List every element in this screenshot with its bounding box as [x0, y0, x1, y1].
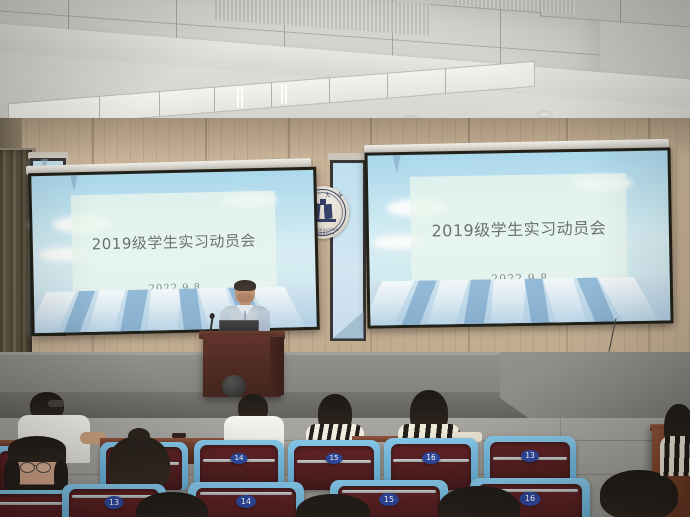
seat-number-badge: 14: [231, 453, 248, 464]
seat-number-badge: 15: [326, 453, 343, 464]
eyeglasses-icon: [36, 462, 51, 473]
seat-number-badge: 16: [520, 492, 541, 506]
seat-number-badge: 13: [521, 450, 539, 462]
seat-number-badge: 16: [422, 452, 440, 464]
downlight-icon: [538, 112, 551, 117]
presenter-hair: [234, 280, 256, 291]
object-on-desk: [172, 433, 186, 438]
podium-side-panel: [270, 337, 284, 395]
seat-number-badge: 14: [236, 495, 256, 508]
attendee-head: [600, 470, 678, 517]
attendee-torso: [660, 436, 690, 476]
slide-footer-image-left: [34, 286, 317, 333]
projection-screen-right: 2019级学生实习动员会 2022.9.8: [364, 147, 673, 328]
attendee-hair: [8, 436, 66, 462]
eyeglasses-icon: [48, 400, 64, 407]
seat-number-badge: 15: [379, 493, 399, 506]
eyeglasses-icon: [20, 462, 35, 473]
lecture-hall-photo: 东 北 大 学 NORTHEASTERN UNIVERSITY 2019级学生实…: [0, 0, 690, 517]
window-right: [330, 160, 366, 341]
attendee-hair-bun: [128, 428, 150, 444]
seat[interactable]: 14: [194, 440, 284, 488]
slide-footer-image-right: [370, 276, 671, 325]
attendee-hair-side: [4, 458, 20, 494]
window-header-box: [328, 153, 368, 160]
seat-number-badge: 13: [105, 496, 124, 509]
bag-under-podium: [222, 375, 246, 397]
projection-screen-left: 2019级学生实习动员会 2022.9.8: [28, 167, 320, 336]
